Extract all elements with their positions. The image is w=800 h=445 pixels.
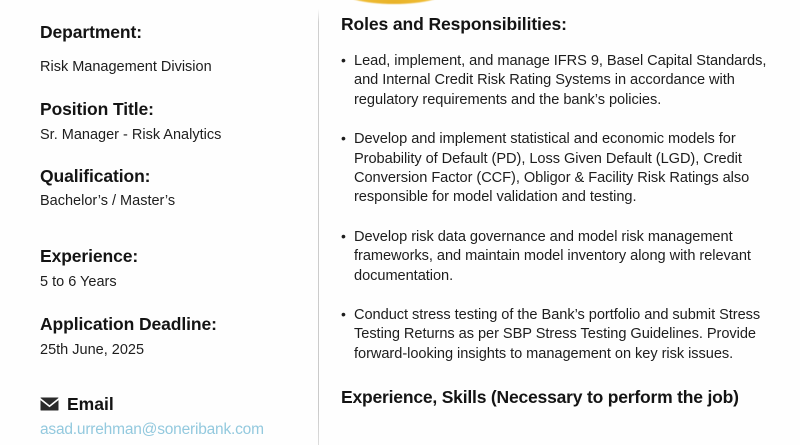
field-qualification: Qualification: Bachelor’s / Master’s bbox=[40, 166, 292, 211]
field-experience-label: Experience: bbox=[40, 246, 292, 268]
job-posting-panel: Department: Risk Management Division Pos… bbox=[0, 0, 800, 445]
field-application-deadline-label: Application Deadline: bbox=[40, 314, 292, 336]
field-application-deadline: Application Deadline: 25th June, 2025 bbox=[40, 314, 292, 360]
roles-bullet-list: Lead, implement, and manage IFRS 9, Base… bbox=[341, 52, 794, 364]
field-qualification-value: Bachelor’s / Master’s bbox=[40, 192, 292, 211]
envelope-icon bbox=[40, 397, 59, 411]
job-details-column: Department: Risk Management Division Pos… bbox=[0, 0, 318, 445]
email-heading-label: Email bbox=[67, 396, 114, 414]
field-qualification-label: Qualification: bbox=[40, 166, 292, 188]
field-position-title-value: Sr. Manager - Risk Analytics bbox=[40, 126, 292, 145]
field-experience: Experience: 5 to 6 Years bbox=[40, 246, 292, 292]
roles-bullet-item: Conduct stress testing of the Bank’s por… bbox=[341, 306, 794, 364]
field-department-value: Risk Management Division bbox=[40, 58, 292, 77]
field-department-label: Department: bbox=[40, 22, 292, 44]
email-section: Email asad.urrehman@soneribank.com *Kind… bbox=[40, 396, 292, 445]
roles-bullet-item: Develop risk data governance and model r… bbox=[341, 228, 794, 286]
roles-bullet-item: Lead, implement, and manage IFRS 9, Base… bbox=[341, 52, 794, 110]
experience-skills-heading: Experience, Skills (Necessary to perform… bbox=[341, 387, 794, 408]
field-application-deadline-value: 25th June, 2025 bbox=[40, 341, 292, 360]
roles-section-heading: Roles and Responsibilities: bbox=[341, 14, 794, 36]
field-position-title: Position Title: Sr. Manager - Risk Analy… bbox=[40, 99, 292, 145]
field-position-title-label: Position Title: bbox=[40, 99, 292, 121]
roles-responsibilities-column: Roles and Responsibilities: Lead, implem… bbox=[318, 0, 800, 445]
field-experience-value: 5 to 6 Years bbox=[40, 273, 292, 292]
roles-bullet-item: Develop and implement statistical and ec… bbox=[341, 130, 794, 208]
email-heading-row: Email bbox=[40, 396, 292, 414]
field-department: Department: Risk Management Division bbox=[40, 22, 292, 77]
email-address-link[interactable]: asad.urrehman@soneribank.com bbox=[40, 421, 292, 440]
